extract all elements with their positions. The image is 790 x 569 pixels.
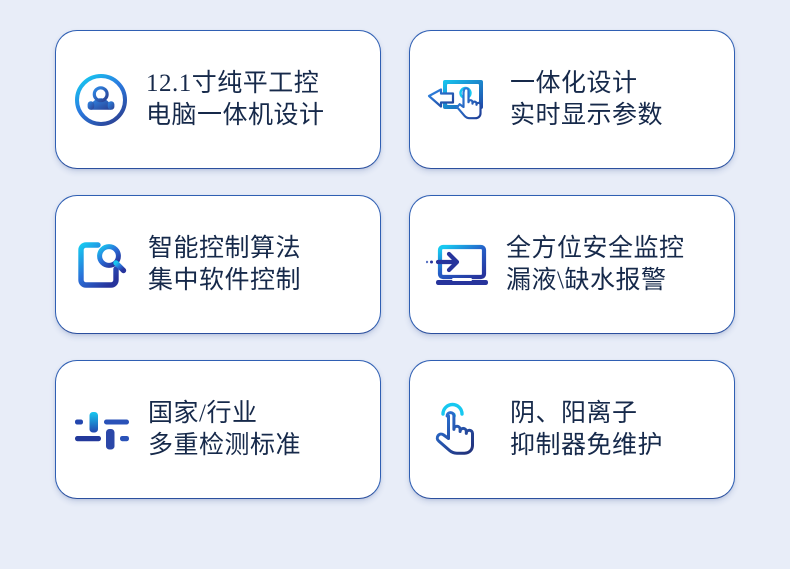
feature-card-1-line1: 12.1寸纯平工控 bbox=[146, 68, 370, 100]
feature-card-2-line2: 实时显示参数 bbox=[510, 100, 724, 132]
feature-card-3-line2: 集中软件控制 bbox=[148, 265, 370, 297]
feature-card-2-text: 一体化设计 实时显示参数 bbox=[506, 68, 734, 132]
feature-card-3-line1: 智能控制算法 bbox=[148, 233, 370, 265]
headset-circle-icon bbox=[56, 72, 146, 128]
feature-card-4-line1: 全方位安全监控 bbox=[506, 233, 724, 265]
feature-card-4-text: 全方位安全监控 漏液\缺水报警 bbox=[506, 233, 734, 297]
feature-card-6-line1: 阴、阳离子 bbox=[510, 398, 724, 430]
feature-grid: 12.1寸纯平工控 电脑一体机设计 bbox=[0, 0, 790, 569]
feature-card-6-text: 阴、阳离子 抑制器免维护 bbox=[506, 398, 734, 462]
laptop-arrow-in-icon bbox=[410, 239, 506, 291]
feature-card-2-line1: 一体化设计 bbox=[510, 68, 724, 100]
touchscreen-hand-icon bbox=[410, 72, 506, 128]
feature-card-4-line2: 漏液\缺水报警 bbox=[506, 265, 724, 297]
feature-card-6-line2: 抑制器免维护 bbox=[510, 430, 724, 462]
feature-card-5-line1: 国家/行业 bbox=[148, 398, 370, 430]
feature-card-5-text: 国家/行业 多重检测标准 bbox=[148, 398, 380, 462]
sliders-icon bbox=[56, 406, 148, 454]
feature-card-5-line2: 多重检测标准 bbox=[148, 430, 370, 462]
feature-card-4[interactable]: 全方位安全监控 漏液\缺水报警 bbox=[409, 195, 735, 334]
feature-card-6[interactable]: 阴、阳离子 抑制器免维护 bbox=[409, 360, 735, 499]
feature-card-2[interactable]: 一体化设计 实时显示参数 bbox=[409, 30, 735, 169]
feature-card-1-text: 12.1寸纯平工控 电脑一体机设计 bbox=[146, 68, 380, 132]
document-search-icon bbox=[56, 237, 148, 293]
feature-card-5[interactable]: 国家/行业 多重检测标准 bbox=[55, 360, 381, 499]
feature-card-1[interactable]: 12.1寸纯平工控 电脑一体机设计 bbox=[55, 30, 381, 169]
feature-card-3-text: 智能控制算法 集中软件控制 bbox=[148, 233, 380, 297]
feature-card-3[interactable]: 智能控制算法 集中软件控制 bbox=[55, 195, 381, 334]
tap-hand-icon bbox=[410, 401, 506, 459]
feature-card-1-line2: 电脑一体机设计 bbox=[146, 100, 370, 132]
